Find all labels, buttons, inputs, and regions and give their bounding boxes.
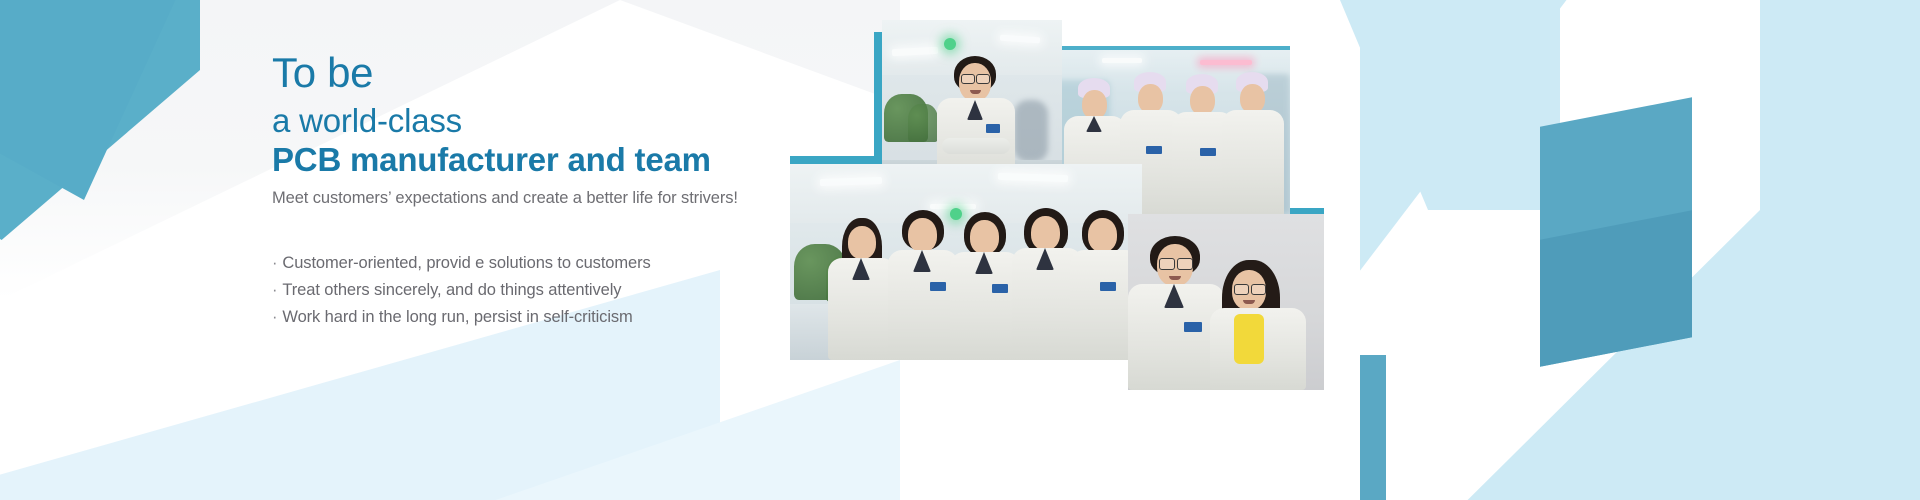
id-badge [1200,148,1216,156]
crossed-arms [942,138,1010,154]
list-item: ·Customer-oriented, provid e solutions t… [272,254,792,273]
face [1240,84,1265,113]
face [908,218,937,252]
banner-subtitle: Meet customers’ expectations and create … [272,189,792,208]
glasses-icon [961,74,975,84]
photo-accent-left [874,32,882,172]
face [1088,218,1117,252]
ceiling-lamp [1102,58,1142,63]
glasses-icon [1159,258,1175,270]
headline-line-2: a world-class [272,104,792,137]
bullet-marker-icon: · [272,308,277,327]
photo-pair-portrait [1128,214,1324,390]
photo-office-team [790,164,1142,360]
yellow-shirt [1234,314,1264,364]
list-item: ·Work hard in the long run, persist in s… [272,308,792,327]
photo-manager-scene [882,20,1062,182]
banner-text-block: To be a world-class PCB manufacturer and… [272,52,792,335]
values-bullet-list: ·Customer-oriented, provid e solutions t… [272,254,792,327]
pink-lamp [1200,60,1252,65]
face [970,220,999,254]
face [1031,216,1060,250]
id-badge [992,284,1008,293]
photo-pair-scene [1128,214,1324,390]
face [848,226,876,259]
uniform-jacket [1222,110,1284,218]
glasses-icon [1234,284,1249,295]
right-blue-tab [1360,355,1386,500]
photo-office-scene [790,164,1142,360]
id-badge [1100,282,1116,291]
company-culture-banner: To be a world-class PCB manufacturer and… [0,0,1920,500]
plant [908,104,938,142]
bullet-marker-icon: · [272,254,277,273]
green-indicator-light [950,208,962,220]
id-badge [1146,146,1162,154]
glasses-icon [1177,258,1193,270]
list-item-label: Treat others sincerely, and do things at… [282,281,621,299]
glasses-icon [1251,284,1266,295]
id-badge [1184,322,1202,332]
photo-manager-portrait [882,20,1062,182]
photo-collage [780,0,1340,390]
list-item-label: Work hard in the long run, persist in se… [282,308,632,326]
headline-line-1: To be [272,52,792,94]
id-badge [930,282,946,291]
background-person-blur [1014,100,1048,162]
glasses-icon [976,74,990,84]
face [1082,90,1107,119]
list-item-label: Customer-oriented, provid e solutions to… [282,254,650,272]
face [1190,86,1215,115]
headline: To be a world-class PCB manufacturer and… [272,52,792,176]
list-item: ·Treat others sincerely, and do things a… [272,281,792,300]
headline-line-3: PCB manufacturer and team [272,143,792,176]
id-badge [986,124,1000,133]
green-indicator-light [944,38,956,50]
bullet-marker-icon: · [272,281,277,300]
face [1138,84,1163,113]
